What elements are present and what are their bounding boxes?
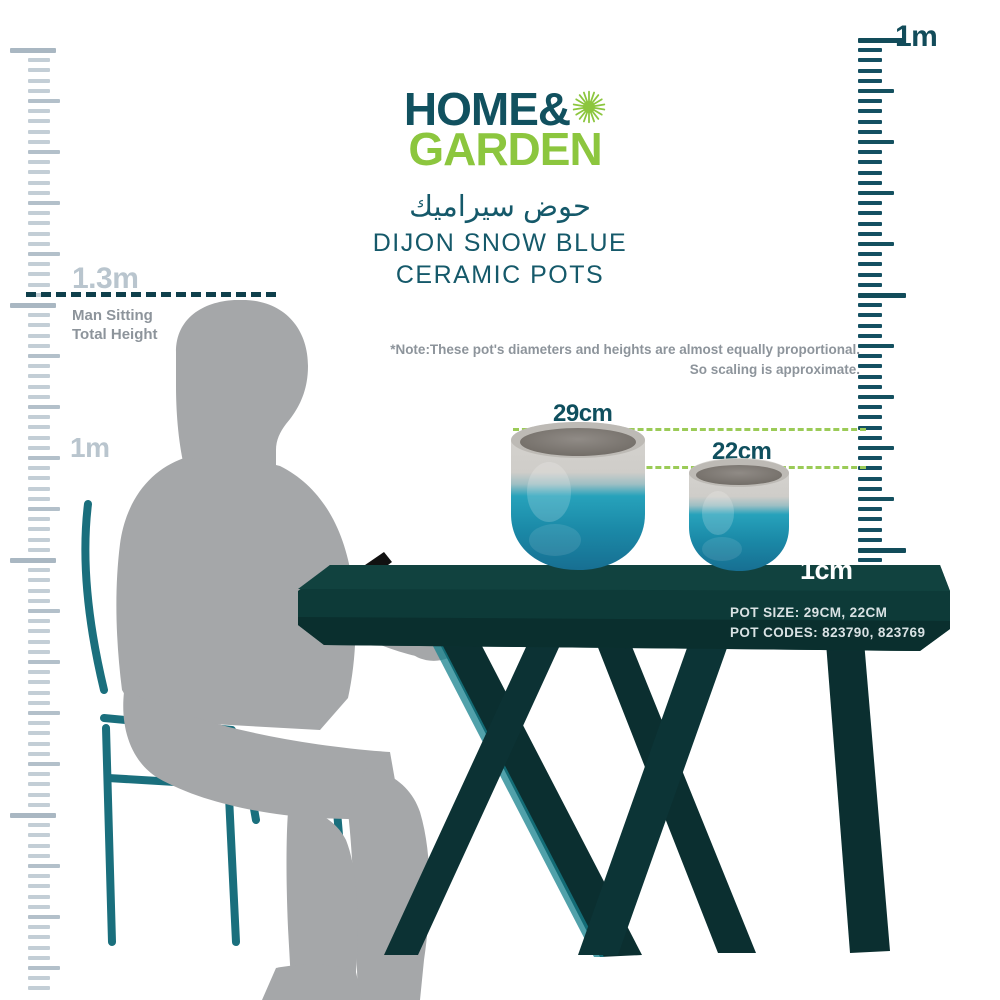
ruler-tick <box>858 375 882 379</box>
ruler-tick <box>28 986 50 990</box>
ruler-right-label-1cm: 1cm <box>800 555 853 586</box>
ruler-tick <box>858 395 894 399</box>
pot-small-22cm <box>684 455 794 575</box>
ruler-tick <box>28 925 50 929</box>
ruler-tick <box>28 497 50 501</box>
ruler-tick <box>28 68 50 72</box>
reference-line-1-3m <box>26 292 276 297</box>
ruler-tick <box>28 711 60 715</box>
ruler-tick <box>28 89 50 93</box>
ruler-tick <box>28 833 50 837</box>
ruler-tick <box>858 334 882 338</box>
ruler-tick <box>858 79 882 83</box>
ruler-tick <box>28 660 60 664</box>
ruler-tick <box>28 803 50 807</box>
ruler-tick <box>858 456 882 460</box>
ruler-tick <box>28 619 50 623</box>
ruler-tick <box>28 772 50 776</box>
ruler-tick <box>28 160 50 164</box>
ruler-tick <box>28 670 50 674</box>
ruler-tick <box>858 497 894 501</box>
ruler-tick <box>28 854 50 858</box>
table-leg-far-right <box>824 617 890 953</box>
ruler-tick <box>858 150 882 154</box>
ruler-tick <box>858 48 882 52</box>
ruler-tick <box>28 507 60 511</box>
ruler-left-label-1-3m: 1.3m <box>72 262 138 296</box>
ruler-tick <box>28 538 50 542</box>
ruler-tick <box>28 517 50 521</box>
scaling-note: *Note:These pot's diameters and heights … <box>340 340 860 379</box>
product-title-english-line1: DIJON SNOW BLUE <box>300 227 700 259</box>
ruler-tick <box>28 742 50 746</box>
ruler-tick <box>28 283 50 287</box>
ruler-tick <box>28 232 50 236</box>
product-infographic: 1.3m 1m 1m Man Sitting Total Height HOME… <box>0 0 1000 1000</box>
ruler-tick <box>858 313 882 317</box>
ruler-right-label-1m: 1m <box>895 20 937 54</box>
ruler-tick <box>858 109 882 113</box>
pot-codes-text: POT CODES: 823790, 823769 <box>730 623 925 643</box>
ruler-tick <box>28 844 50 848</box>
ruler-tick <box>28 221 50 225</box>
ruler-tick <box>28 354 60 358</box>
ruler-tick <box>28 640 50 644</box>
ruler-tick <box>28 99 60 103</box>
ruler-tick <box>858 191 894 195</box>
ruler-tick <box>858 222 882 226</box>
ruler-tick <box>28 864 60 868</box>
ruler-tick <box>28 252 60 256</box>
ruler-tick <box>28 568 50 572</box>
ruler-tick <box>28 823 50 827</box>
ruler-tick <box>28 793 50 797</box>
product-title-arabic: حوض سيراميك <box>300 188 700 227</box>
ruler-tick <box>858 385 882 389</box>
ruler-tick <box>858 273 882 277</box>
ruler-tick <box>858 211 882 215</box>
pot-large-29cm <box>505 418 651 576</box>
ruler-tick <box>28 701 50 705</box>
ruler-tick <box>28 884 50 888</box>
ruler-tick <box>858 99 882 103</box>
ruler-tick <box>28 364 50 368</box>
ruler-tick <box>28 262 50 266</box>
ruler-tick <box>10 48 56 53</box>
logo-garden-text: GARDEN <box>340 126 670 172</box>
ruler-tick <box>28 966 60 970</box>
ruler-tick <box>858 58 882 62</box>
ruler-tick <box>28 119 50 123</box>
ruler-tick <box>28 721 50 725</box>
starburst-leaf-icon <box>572 90 606 128</box>
ruler-tick <box>28 272 50 276</box>
ruler-tick <box>858 242 894 246</box>
ruler-tick <box>858 252 882 256</box>
ruler-tick <box>28 935 50 939</box>
ruler-tick <box>28 181 50 185</box>
ruler-tick <box>28 334 50 338</box>
ruler-tick <box>28 130 50 134</box>
ruler-tick <box>28 609 60 613</box>
ruler-tick <box>28 79 50 83</box>
ruler-tick <box>28 405 60 409</box>
ruler-tick <box>28 731 50 735</box>
ruler-tick <box>858 538 882 542</box>
product-title-block: حوض سيراميك DIJON SNOW BLUE CERAMIC POTS <box>300 188 700 291</box>
ruler-tick <box>28 466 50 470</box>
ruler-tick <box>28 629 50 633</box>
ruler-tick <box>28 150 60 154</box>
ruler-tick <box>28 323 50 327</box>
ruler-tick <box>858 120 882 124</box>
ruler-tick <box>858 160 882 164</box>
scaling-note-line2: So scaling is approximate. <box>340 360 860 380</box>
ruler-tick <box>28 956 50 960</box>
ruler-tick <box>858 89 894 93</box>
ruler-tick <box>858 446 894 450</box>
ruler-tick <box>858 415 882 419</box>
ruler-tick <box>28 58 50 62</box>
ruler-tick <box>28 395 50 399</box>
ruler-tick <box>28 691 50 695</box>
ruler-tick <box>28 425 50 429</box>
ruler-tick <box>28 211 50 215</box>
ruler-tick <box>858 283 882 287</box>
ruler-tick <box>28 191 50 195</box>
ruler-tick <box>858 507 882 511</box>
ruler-tick <box>858 262 882 266</box>
ruler-tick <box>28 415 50 419</box>
table-leg-left-accent <box>420 621 604 957</box>
ruler-tick <box>858 436 882 440</box>
ruler-tick <box>858 344 894 348</box>
pot-info-overlay: POT SIZE: 29CM, 22CM POT CODES: 823790, … <box>730 603 925 642</box>
ruler-tick <box>28 456 60 460</box>
ruler-tick <box>28 201 60 205</box>
ruler-tick <box>858 517 882 521</box>
ruler-tick <box>858 181 882 185</box>
ruler-tick <box>858 293 906 298</box>
brand-logo: HOME& <box>340 88 670 172</box>
ruler-tick <box>28 905 50 909</box>
ruler-tick <box>858 528 882 532</box>
ruler-tick <box>858 140 894 144</box>
ruler-tick <box>10 813 56 818</box>
ruler-tick <box>28 109 50 113</box>
ruler-tick <box>28 946 50 950</box>
ruler-tick <box>28 385 50 389</box>
ruler-tick <box>28 527 50 531</box>
ruler-tick <box>28 170 50 174</box>
ruler-tick <box>858 354 882 358</box>
ruler-tick <box>858 477 882 481</box>
ruler-tick <box>28 895 50 899</box>
ruler-tick <box>858 487 882 491</box>
pot-size-text: POT SIZE: 29CM, 22CM <box>730 603 925 623</box>
ruler-tick <box>28 874 50 878</box>
ruler-tick <box>28 313 50 317</box>
ruler-tick <box>858 324 882 328</box>
ruler-tick <box>858 232 882 236</box>
ruler-tick <box>28 242 50 246</box>
ruler-tick <box>28 762 60 766</box>
ruler-tick <box>28 476 50 480</box>
ruler-tick <box>28 915 60 919</box>
ruler-tick <box>28 680 50 684</box>
product-title-english-line2: CERAMIC POTS <box>300 259 700 291</box>
ruler-tick <box>858 130 882 134</box>
ruler-tick <box>858 69 882 73</box>
ruler-tick <box>28 140 50 144</box>
ruler-tick <box>28 487 50 491</box>
ruler-tick <box>10 558 56 563</box>
ruler-tick <box>858 364 882 368</box>
ruler-tick <box>28 650 50 654</box>
ruler-tick <box>858 548 906 553</box>
ruler-tick <box>28 374 50 378</box>
scaling-note-line1: *Note:These pot's diameters and heights … <box>340 340 860 360</box>
ruler-tick <box>28 578 50 582</box>
ruler-tick <box>10 303 56 308</box>
ruler-tick <box>28 436 50 440</box>
ruler-tick <box>28 976 50 980</box>
ruler-tick <box>28 344 50 348</box>
ruler-tick <box>858 303 882 307</box>
ruler-tick <box>28 548 50 552</box>
ruler-tick <box>28 446 50 450</box>
ruler-tick <box>858 405 882 409</box>
ruler-tick <box>28 589 50 593</box>
ruler-tick <box>858 201 882 205</box>
ruler-tick <box>858 171 882 175</box>
ruler-tick <box>28 752 50 756</box>
ruler-tick <box>28 782 50 786</box>
ruler-tick <box>28 599 50 603</box>
